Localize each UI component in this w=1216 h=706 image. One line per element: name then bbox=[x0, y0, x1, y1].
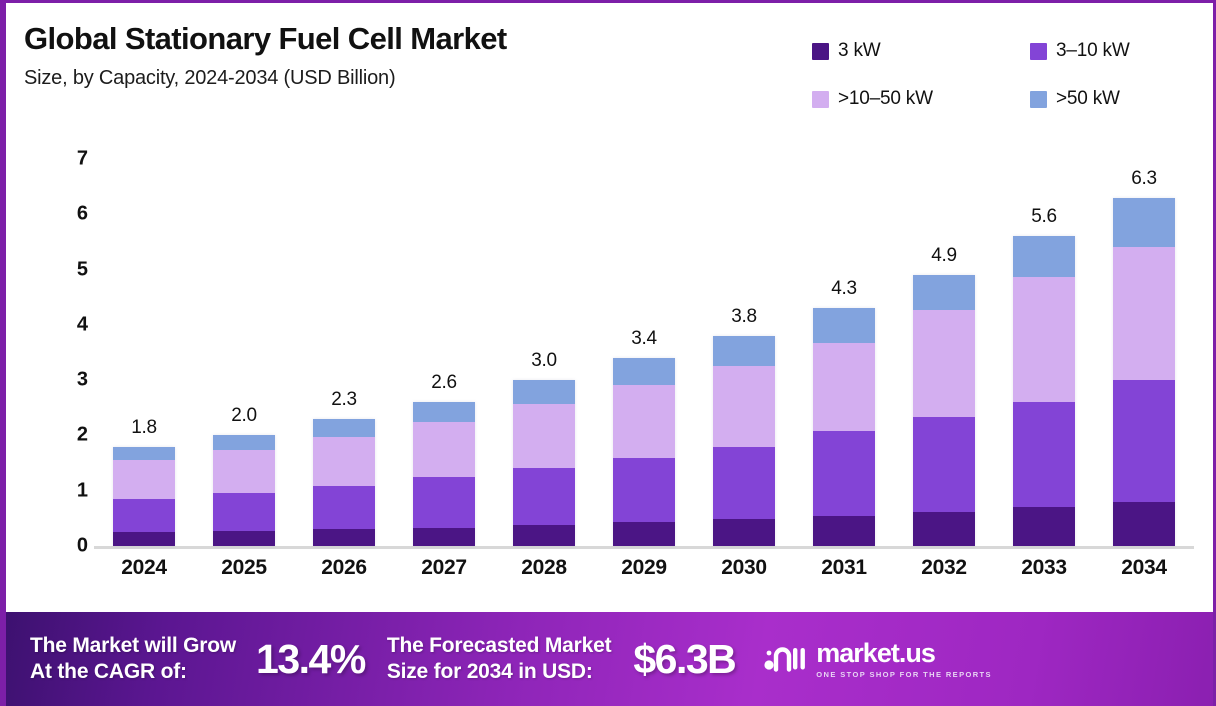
y-axis-tick: 6 bbox=[77, 203, 88, 226]
bar-segment[interactable] bbox=[1113, 247, 1175, 380]
bar-segment[interactable] bbox=[413, 477, 475, 527]
bar-segment[interactable] bbox=[213, 493, 275, 531]
bar-stack[interactable] bbox=[113, 447, 175, 547]
bar-value-label: 2.0 bbox=[195, 405, 294, 427]
x-axis-tick: 2026 bbox=[295, 556, 394, 580]
legend-label: 3 kW bbox=[838, 40, 880, 62]
bar-segment[interactable] bbox=[813, 516, 875, 546]
legend-swatch-icon bbox=[812, 91, 829, 108]
bar-group[interactable]: 3.4 bbox=[595, 159, 694, 546]
bar-group[interactable]: 2.6 bbox=[395, 159, 494, 546]
bar-group[interactable]: 5.6 bbox=[995, 159, 1094, 546]
x-axis-tick: 2028 bbox=[495, 556, 594, 580]
legend-item-3kw[interactable]: 3 kW bbox=[812, 40, 1030, 62]
bar-value-label: 4.3 bbox=[795, 278, 894, 300]
x-axis-tick: 2031 bbox=[795, 556, 894, 580]
bar-group[interactable]: 4.9 bbox=[895, 159, 994, 546]
bar-stack[interactable] bbox=[413, 402, 475, 546]
bar-value-label: 4.9 bbox=[895, 245, 994, 267]
legend-swatch-icon bbox=[1030, 43, 1047, 60]
bar-segment[interactable] bbox=[713, 336, 775, 366]
bar-group[interactable]: 3.0 bbox=[495, 159, 594, 546]
bar-segment[interactable] bbox=[113, 447, 175, 461]
bar-segment[interactable] bbox=[713, 519, 775, 546]
bar-stack[interactable] bbox=[1013, 236, 1075, 546]
bar-segment[interactable] bbox=[613, 458, 675, 523]
bar-segment[interactable] bbox=[113, 532, 175, 546]
forecast-caption-line1: The Forecasted Market bbox=[387, 633, 612, 659]
bar-series-container: 1.82.02.32.63.03.43.84.34.95.66.3 bbox=[94, 159, 1194, 546]
chart-header: Global Stationary Fuel Cell Market Size,… bbox=[6, 3, 1216, 151]
bar-segment[interactable] bbox=[213, 531, 275, 546]
bar-segment[interactable] bbox=[913, 275, 975, 310]
bar-segment[interactable] bbox=[413, 402, 475, 422]
x-axis-tick: 2030 bbox=[695, 556, 794, 580]
chart-legend: 3 kW 3–10 kW >10–50 kW >50 kW bbox=[812, 27, 1196, 123]
x-axis-line bbox=[94, 546, 1194, 549]
legend-label: >50 kW bbox=[1056, 88, 1120, 110]
cagr-value: 13.4% bbox=[256, 636, 365, 683]
bar-value-label: 3.8 bbox=[695, 306, 794, 328]
x-axis-tick: 2029 bbox=[595, 556, 694, 580]
legend-swatch-icon bbox=[1030, 91, 1047, 108]
legend-item-over-50kw[interactable]: >50 kW bbox=[1030, 88, 1196, 110]
bar-segment[interactable] bbox=[1013, 402, 1075, 507]
chart-plot-area: 01234567 1.82.02.32.63.03.43.84.34.95.66… bbox=[6, 151, 1216, 611]
forecast-caption-line2: Size for 2034 in USD: bbox=[387, 659, 612, 685]
bar-segment[interactable] bbox=[613, 522, 675, 546]
bar-segment[interactable] bbox=[813, 343, 875, 431]
bar-value-label: 2.6 bbox=[395, 372, 494, 394]
bar-segment[interactable] bbox=[613, 358, 675, 385]
footer-banner: The Market will Grow At the CAGR of: 13.… bbox=[6, 612, 1216, 706]
bar-stack[interactable] bbox=[913, 275, 975, 546]
bar-segment[interactable] bbox=[813, 308, 875, 342]
bar-group[interactable]: 4.3 bbox=[795, 159, 894, 546]
bar-stack[interactable] bbox=[1113, 198, 1175, 546]
bar-stack[interactable] bbox=[313, 419, 375, 546]
x-axis-tick: 2027 bbox=[395, 556, 494, 580]
x-axis-tick: 2033 bbox=[995, 556, 1094, 580]
bar-value-label: 3.0 bbox=[495, 350, 594, 372]
brand-logo[interactable]: market.us ONE STOP SHOP FOR THE REPORTS bbox=[763, 640, 992, 679]
bar-stack[interactable] bbox=[813, 308, 875, 546]
infographic-root: Global Stationary Fuel Cell Market Size,… bbox=[0, 0, 1216, 706]
bar-segment[interactable] bbox=[113, 460, 175, 499]
bar-stack[interactable] bbox=[213, 435, 275, 546]
bar-segment[interactable] bbox=[513, 404, 575, 468]
x-axis: 2024202520262027202820292030203120322033… bbox=[94, 556, 1194, 580]
bar-stack[interactable] bbox=[613, 358, 675, 546]
cagr-caption-line2: At the CAGR of: bbox=[30, 659, 236, 685]
x-axis-tick: 2032 bbox=[895, 556, 994, 580]
legend-item-3-10kw[interactable]: 3–10 kW bbox=[1030, 40, 1196, 62]
bar-segment[interactable] bbox=[1113, 198, 1175, 248]
bar-segment[interactable] bbox=[413, 422, 475, 477]
y-axis-tick: 7 bbox=[77, 148, 88, 171]
y-axis-tick: 4 bbox=[77, 313, 88, 336]
bar-stack[interactable] bbox=[713, 336, 775, 546]
bar-group[interactable]: 3.8 bbox=[695, 159, 794, 546]
bar-segment[interactable] bbox=[1113, 502, 1175, 546]
y-axis: 01234567 bbox=[54, 159, 88, 559]
bar-segment[interactable] bbox=[213, 450, 275, 493]
bar-segment[interactable] bbox=[713, 366, 775, 446]
x-axis-tick: 2034 bbox=[1095, 556, 1194, 580]
bar-group[interactable]: 1.8 bbox=[95, 159, 194, 546]
bar-segment[interactable] bbox=[713, 447, 775, 520]
bar-segment[interactable] bbox=[313, 529, 375, 546]
brand-text: market.us ONE STOP SHOP FOR THE REPORTS bbox=[816, 640, 992, 679]
bar-value-label: 6.3 bbox=[1095, 168, 1194, 190]
chart-subtitle: Size, by Capacity, 2024-2034 (USD Billio… bbox=[24, 67, 507, 90]
forecast-caption: The Forecasted Market Size for 2034 in U… bbox=[387, 633, 612, 684]
page-title: Global Stationary Fuel Cell Market bbox=[24, 21, 507, 57]
bar-value-label: 2.3 bbox=[295, 389, 394, 411]
bar-group[interactable]: 2.3 bbox=[295, 159, 394, 546]
title-block: Global Stationary Fuel Cell Market Size,… bbox=[24, 21, 507, 90]
bar-segment[interactable] bbox=[1013, 277, 1075, 401]
legend-label: >10–50 kW bbox=[838, 88, 933, 110]
bar-segment[interactable] bbox=[1013, 507, 1075, 546]
bar-segment[interactable] bbox=[513, 525, 575, 546]
forecast-value: $6.3B bbox=[633, 636, 735, 683]
y-axis-tick: 1 bbox=[77, 479, 88, 502]
market-us-logo-icon bbox=[763, 642, 807, 677]
bar-segment[interactable] bbox=[513, 468, 575, 525]
x-axis-tick: 2024 bbox=[95, 556, 194, 580]
bar-group[interactable]: 2.0 bbox=[195, 159, 294, 546]
y-axis-tick: 0 bbox=[77, 535, 88, 558]
legend-label: 3–10 kW bbox=[1056, 40, 1130, 62]
legend-swatch-icon bbox=[812, 43, 829, 60]
bar-segment[interactable] bbox=[1013, 236, 1075, 277]
bar-value-label: 5.6 bbox=[995, 206, 1094, 228]
bar-segment[interactable] bbox=[113, 499, 175, 532]
bar-segment[interactable] bbox=[213, 435, 275, 449]
brand-tagline: ONE STOP SHOP FOR THE REPORTS bbox=[816, 670, 992, 679]
brand-name: market.us bbox=[816, 640, 992, 667]
y-axis-tick: 3 bbox=[77, 369, 88, 392]
bar-segment[interactable] bbox=[313, 419, 375, 437]
bar-group[interactable]: 6.3 bbox=[1095, 159, 1194, 546]
bar-segment[interactable] bbox=[313, 486, 375, 530]
bar-segment[interactable] bbox=[413, 528, 475, 546]
bar-value-label: 3.4 bbox=[595, 328, 694, 350]
x-axis-tick: 2025 bbox=[195, 556, 294, 580]
bar-segment[interactable] bbox=[513, 380, 575, 404]
bar-value-label: 1.8 bbox=[95, 417, 194, 439]
bar-segment[interactable] bbox=[613, 385, 675, 458]
bar-segment[interactable] bbox=[913, 310, 975, 417]
bar-segment[interactable] bbox=[1113, 380, 1175, 502]
cagr-caption-line1: The Market will Grow bbox=[30, 633, 236, 659]
bar-segment[interactable] bbox=[913, 512, 975, 546]
legend-item-10-50kw[interactable]: >10–50 kW bbox=[812, 88, 1030, 110]
bar-segment[interactable] bbox=[813, 431, 875, 516]
bar-segment[interactable] bbox=[913, 417, 975, 512]
bar-stack[interactable] bbox=[513, 380, 575, 546]
bar-segment[interactable] bbox=[313, 437, 375, 486]
cagr-caption: The Market will Grow At the CAGR of: bbox=[30, 633, 236, 684]
y-axis-tick: 5 bbox=[77, 258, 88, 281]
y-axis-tick: 2 bbox=[77, 424, 88, 447]
